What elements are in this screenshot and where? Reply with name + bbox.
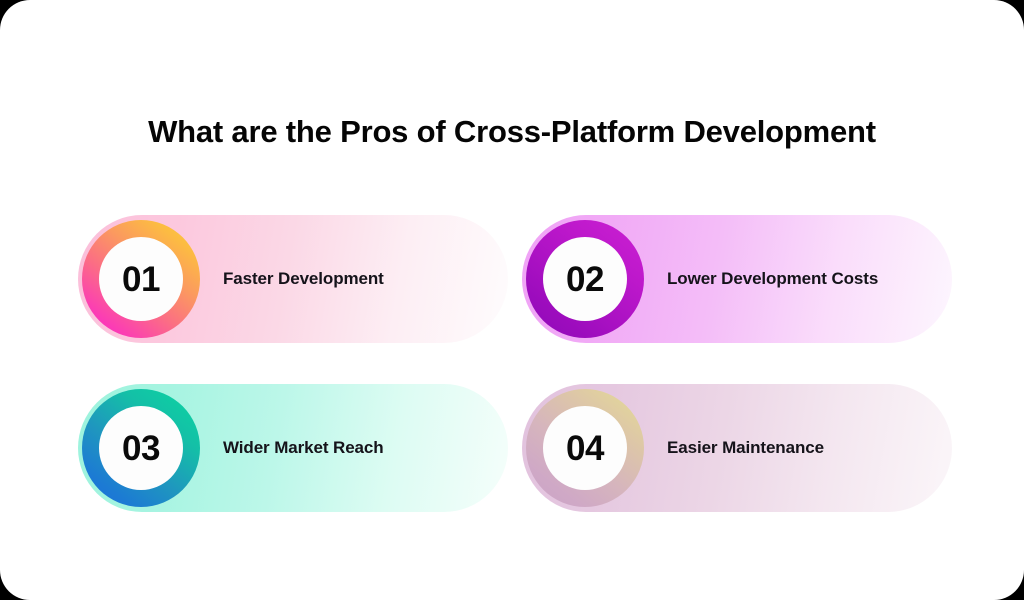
card-label-02: Lower Development Costs — [667, 266, 878, 292]
card-number-04: 04 — [566, 431, 604, 466]
number-ring-inner-02: 02 — [543, 237, 627, 321]
number-ring-03: 03 — [82, 389, 200, 507]
number-ring-02: 02 — [526, 220, 644, 338]
card-number-01: 01 — [122, 262, 160, 297]
pros-card-04[interactable]: 04 Easier Maintenance — [522, 384, 952, 512]
pros-card-03[interactable]: 03 Wider Market Reach — [78, 384, 508, 512]
card-number-02: 02 — [566, 262, 604, 297]
number-ring-inner-03: 03 — [99, 406, 183, 490]
infographic-root: What are the Pros of Cross-Platform Deve… — [0, 0, 1024, 600]
pros-card-01[interactable]: 01 Faster Development — [78, 215, 508, 343]
card-label-01: Faster Development — [223, 266, 384, 292]
card-label-03: Wider Market Reach — [223, 435, 384, 461]
number-ring-inner-01: 01 — [99, 237, 183, 321]
card-number-03: 03 — [122, 431, 160, 466]
number-ring-01: 01 — [82, 220, 200, 338]
number-ring-inner-04: 04 — [543, 406, 627, 490]
number-ring-04: 04 — [526, 389, 644, 507]
pros-card-02[interactable]: 02 Lower Development Costs — [522, 215, 952, 343]
pros-card-grid: 01 Faster Development 02 Lower Developme… — [78, 215, 952, 512]
card-label-04: Easier Maintenance — [667, 435, 824, 461]
page-title: What are the Pros of Cross-Platform Deve… — [0, 113, 1024, 150]
